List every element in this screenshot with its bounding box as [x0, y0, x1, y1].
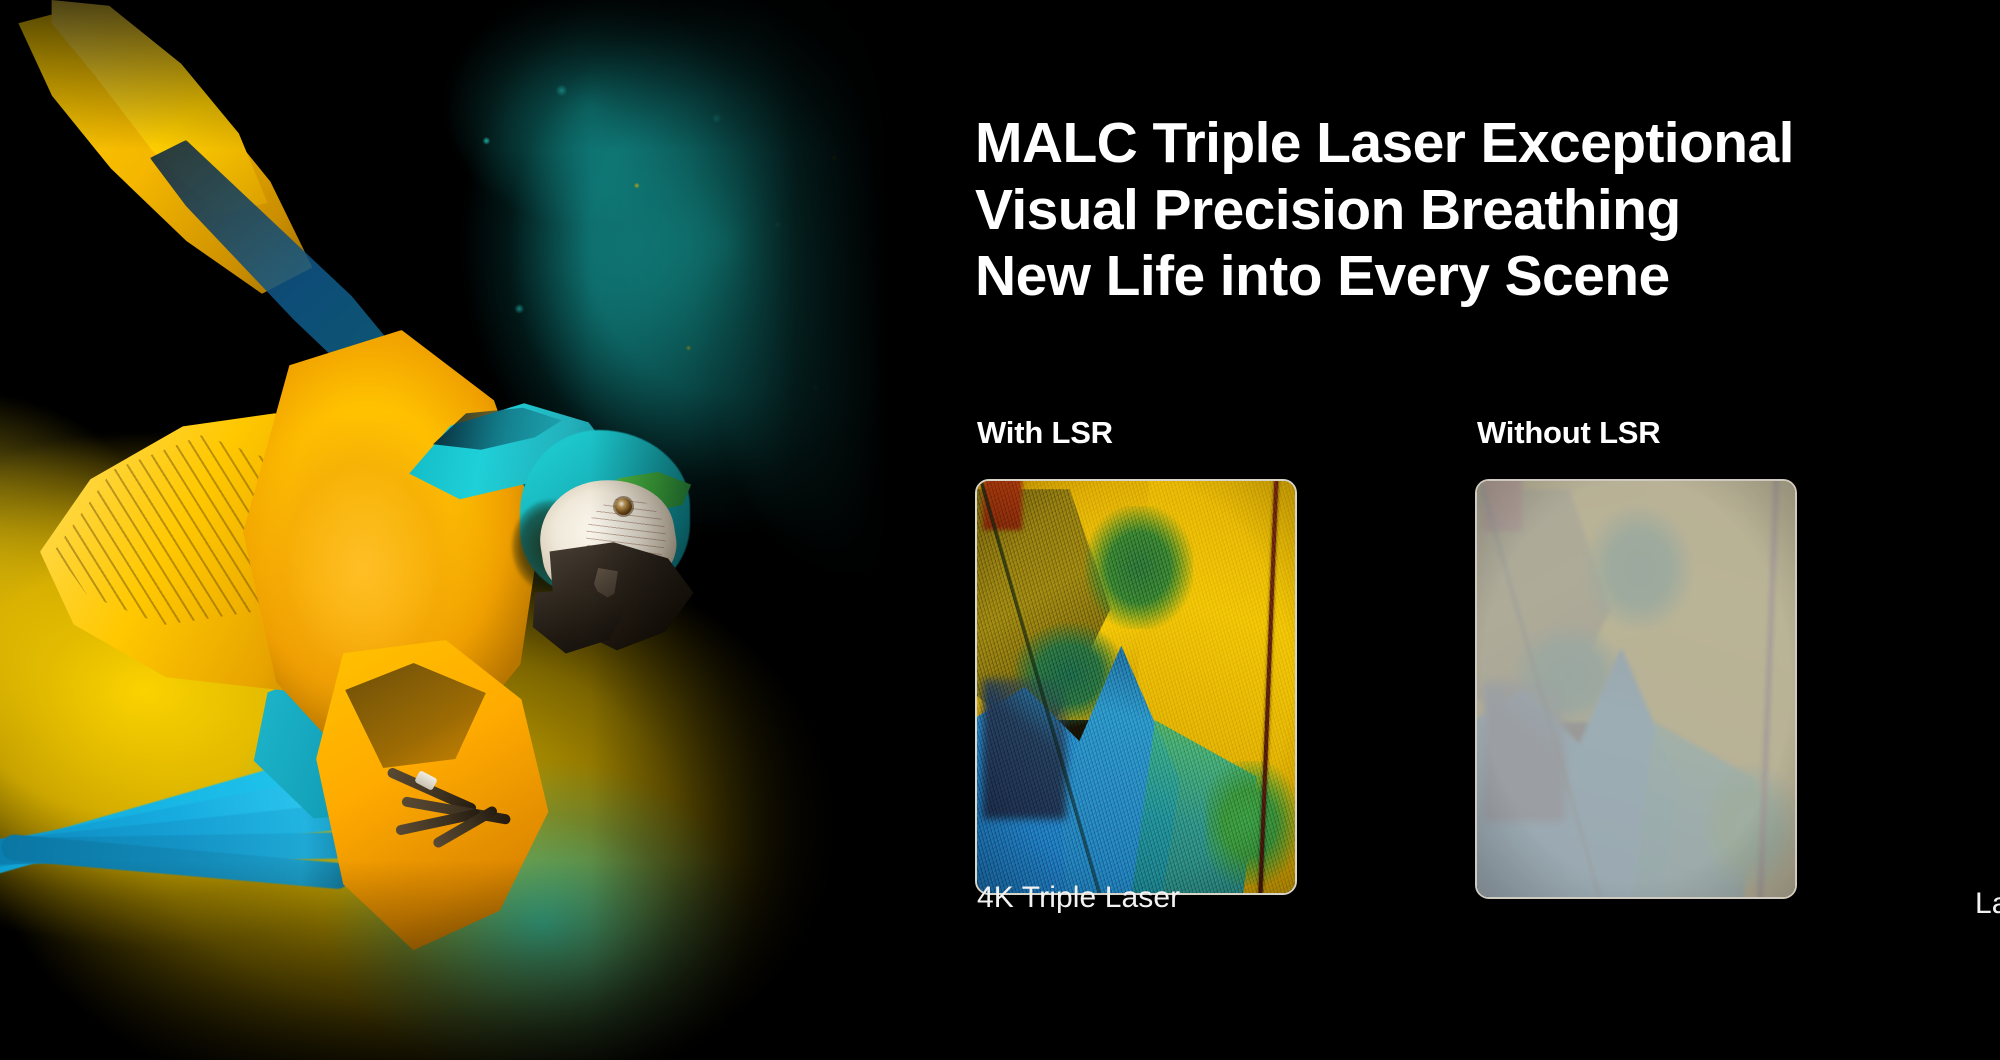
without-lsr-label: Without LSR — [1477, 415, 1885, 451]
headline-line-2: Visual Precision Breathing — [975, 177, 1975, 244]
without-lsr-image — [1475, 479, 1797, 899]
hero-canvas — [0, 0, 920, 1060]
without-lsr-caption: Laser TV — [1975, 887, 2000, 921]
with-lsr-label: With LSR — [977, 415, 1385, 451]
comparison-column-without-lsr: Without LSR — [1475, 415, 1885, 899]
with-lsr-caption: 4K Triple Laser — [977, 881, 1180, 915]
page-title: MALC Triple Laser Exceptional Visual Pre… — [975, 110, 1975, 310]
feather-macro-speckled — [1477, 481, 1795, 897]
panel-vignette — [1477, 481, 1795, 897]
hero-right-fade — [590, 0, 920, 1060]
headline-line-1: MALC Triple Laser Exceptional — [975, 110, 1975, 177]
panel-vignette — [977, 481, 1295, 893]
with-lsr-image — [975, 479, 1297, 895]
promo-banner: MALC Triple Laser Exceptional Visual Pre… — [0, 0, 2000, 1060]
headline-line-3: New Life into Every Scene — [975, 243, 1975, 310]
hero-image — [0, 0, 920, 1060]
feather-macro-sharp — [977, 481, 1295, 893]
comparison-column-with-lsr: With LSR — [975, 415, 1385, 895]
content-panel: MALC Triple Laser Exceptional Visual Pre… — [920, 0, 2000, 1060]
